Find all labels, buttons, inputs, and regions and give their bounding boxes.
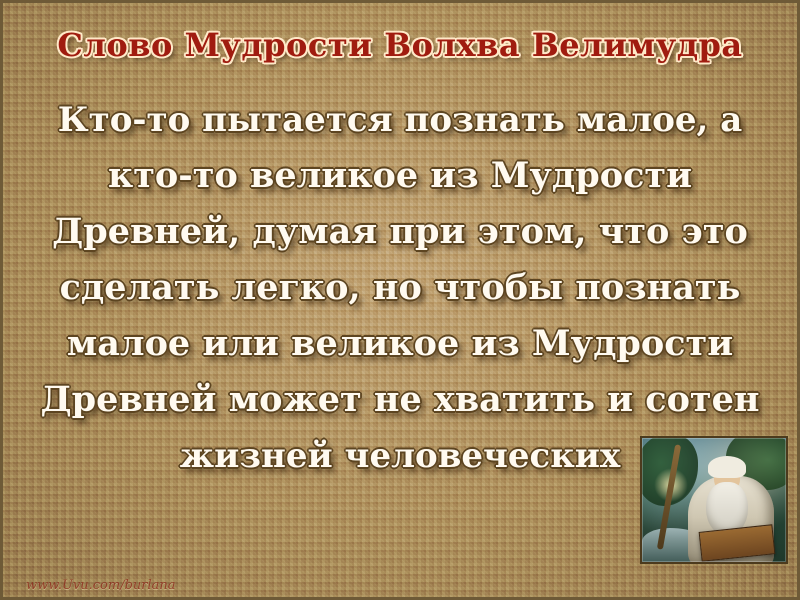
quote-block: Кто-то пытается познать малое, а кто-то … <box>14 92 786 484</box>
volkhv-portrait-image <box>640 436 788 564</box>
watermark-text: www.Uvu.com/burlana <box>26 578 176 593</box>
portrait-hair <box>708 456 746 478</box>
quote-line: Кто-то пытается познать малое, а <box>14 92 786 148</box>
poster-canvas: Слово Мудрости Волхва Велимудра Кто-то п… <box>0 0 800 600</box>
quote-line: кто-то великое из Мудрости <box>14 148 786 204</box>
quote-line: Древней может не хватить и сотен <box>14 372 786 428</box>
poster-title: Слово Мудрости Волхва Велимудра <box>0 26 800 64</box>
quote-line: малое или великое из Мудрости <box>14 316 786 372</box>
quote-line: Древней, думая при этом, что это <box>14 204 786 260</box>
quote-line: сделать легко, но чтобы познать <box>14 260 786 316</box>
